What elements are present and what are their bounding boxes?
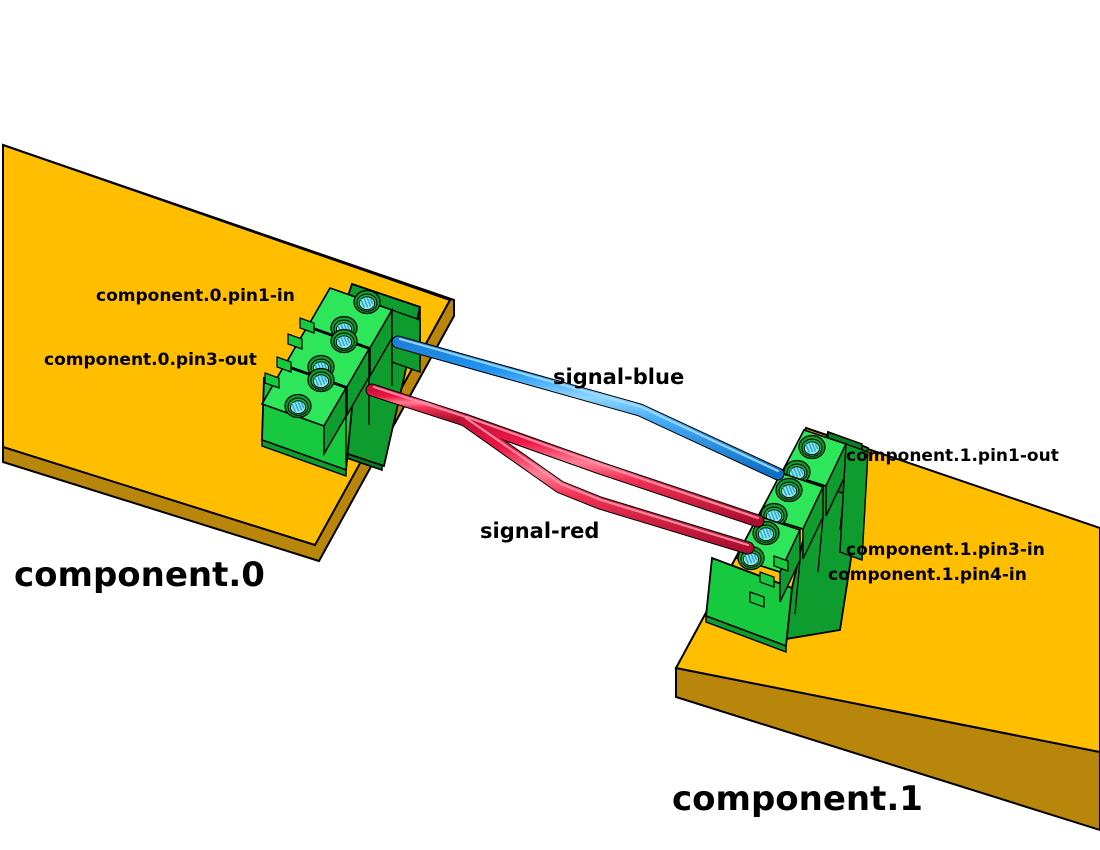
diagram-canvas: component.0.pin1-in component.0.pin3-out… (0, 0, 1100, 850)
pin-label-component-1-pin3-in: component.1.pin3-in (846, 540, 1045, 560)
pcb-wiring-diagram: component.0.pin1-in component.0.pin3-out… (0, 0, 1100, 850)
wire-label-signal-red: signal-red (480, 519, 599, 543)
board-title-component-0: component.0 (14, 555, 265, 595)
board-title-component-1: component.1 (672, 779, 923, 819)
wire-signal-blue[interactable] (398, 339, 778, 474)
pin-label-component-1-pin4-in: component.1.pin4-in (828, 565, 1027, 585)
pin-label-component-1-pin1-out: component.1.pin1-out (846, 446, 1059, 466)
pin-label-component-0-pin3-out: component.0.pin3-out (44, 350, 257, 370)
wire-label-signal-blue: signal-blue (553, 365, 684, 389)
pin-label-component-0-pin1-in: component.0.pin1-in (96, 286, 295, 306)
